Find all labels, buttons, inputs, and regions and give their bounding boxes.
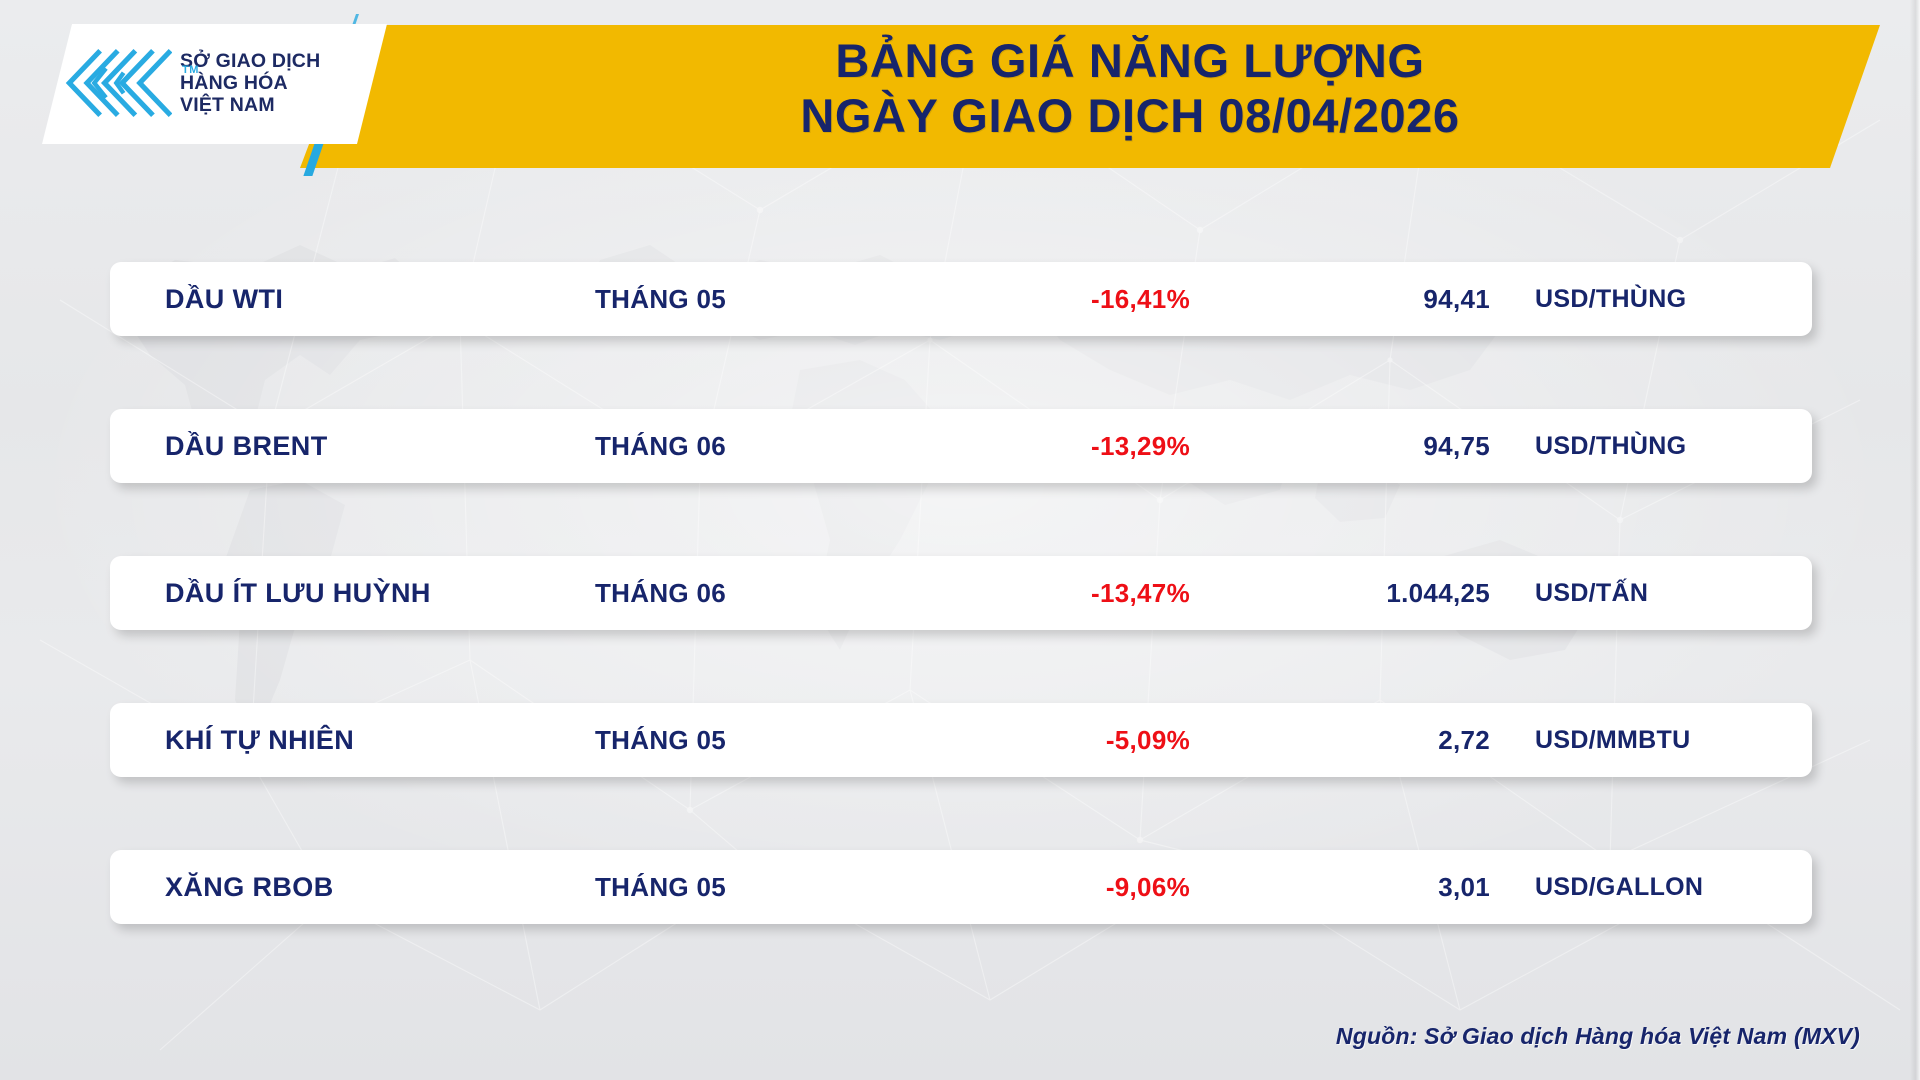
price-value: 3,01 bbox=[1190, 872, 1490, 903]
change-percent: -5,09% bbox=[910, 725, 1190, 756]
change-percent: -13,29% bbox=[910, 431, 1190, 462]
price-value: 1.044,25 bbox=[1190, 578, 1490, 609]
commodity-name: DẦU ÍT LƯU HUỲNH bbox=[165, 578, 431, 609]
table-row[interactable]: XĂNG RBOB THÁNG 05 -9,06% 3,01 USD/GALLO… bbox=[110, 850, 1812, 924]
logo-card: TM SỞ GIAO DỊCH HÀNG HÓA VIỆT NAM bbox=[42, 24, 387, 144]
source-note: Nguồn: Sở Giao dịch Hàng hóa Việt Nam (M… bbox=[1336, 1023, 1860, 1050]
table-row[interactable]: KHÍ TỰ NHIÊN THÁNG 05 -5,09% 2,72 USD/MM… bbox=[110, 703, 1812, 777]
page-title: BẢNG GIÁ NĂNG LƯỢNG bbox=[480, 33, 1780, 88]
page-subtitle: NGÀY GIAO DỊCH 08/04/2026 bbox=[480, 88, 1780, 143]
contract-month: THÁNG 05 bbox=[595, 284, 726, 315]
table-row[interactable]: DẦU WTI THÁNG 05 -16,41% 94,41 USD/THÙNG bbox=[110, 262, 1812, 336]
contract-month: THÁNG 06 bbox=[595, 578, 726, 609]
commodity-name: DẦU WTI bbox=[165, 284, 283, 315]
price-unit: USD/THÙNG bbox=[1535, 432, 1686, 461]
price-unit: USD/MMBTU bbox=[1535, 726, 1690, 755]
price-unit: USD/GALLON bbox=[1535, 873, 1703, 902]
right-edge-shadow bbox=[1910, 0, 1920, 1080]
contract-month: THÁNG 05 bbox=[595, 725, 726, 756]
brand-name-line-3: VIỆT NAM bbox=[180, 94, 320, 116]
change-percent: -13,47% bbox=[910, 578, 1190, 609]
commodity-name: XĂNG RBOB bbox=[165, 872, 334, 903]
change-percent: -16,41% bbox=[910, 284, 1190, 315]
energy-price-board: TM SỞ GIAO DỊCH HÀNG HÓA VIỆT NAM BẢNG G… bbox=[0, 0, 1920, 1080]
brand-name-line-2: HÀNG HÓA bbox=[180, 72, 320, 94]
price-value: 94,41 bbox=[1190, 284, 1490, 315]
commodity-name: KHÍ TỰ NHIÊN bbox=[165, 725, 354, 756]
commodity-name: DẦU BRENT bbox=[165, 431, 328, 462]
contract-month: THÁNG 06 bbox=[595, 431, 726, 462]
mxv-chevron-maze-icon bbox=[62, 46, 172, 120]
price-value: 94,75 bbox=[1190, 431, 1490, 462]
page-header: TM SỞ GIAO DỊCH HÀNG HÓA VIỆT NAM BẢNG G… bbox=[0, 0, 1920, 180]
table-row[interactable]: DẦU ÍT LƯU HUỲNH THÁNG 06 -13,47% 1.044,… bbox=[110, 556, 1812, 630]
change-percent: -9,06% bbox=[910, 872, 1190, 903]
logo-inner: TM SỞ GIAO DỊCH HÀNG HÓA VIỆT NAM bbox=[62, 46, 320, 120]
price-table: DẦU WTI THÁNG 05 -16,41% 94,41 USD/THÙNG… bbox=[110, 262, 1812, 924]
price-unit: USD/THÙNG bbox=[1535, 285, 1686, 314]
brand-name-line-1: SỞ GIAO DỊCH bbox=[180, 50, 320, 72]
price-unit: USD/TẤN bbox=[1535, 579, 1648, 608]
table-row[interactable]: DẦU BRENT THÁNG 06 -13,29% 94,75 USD/THÙ… bbox=[110, 409, 1812, 483]
contract-month: THÁNG 05 bbox=[595, 872, 726, 903]
brand-name: SỞ GIAO DỊCH HÀNG HÓA VIỆT NAM bbox=[180, 50, 320, 116]
trademark-mark: TM bbox=[182, 64, 199, 76]
header-title-block: BẢNG GIÁ NĂNG LƯỢNG NGÀY GIAO DỊCH 08/04… bbox=[480, 33, 1780, 144]
price-value: 2,72 bbox=[1190, 725, 1490, 756]
